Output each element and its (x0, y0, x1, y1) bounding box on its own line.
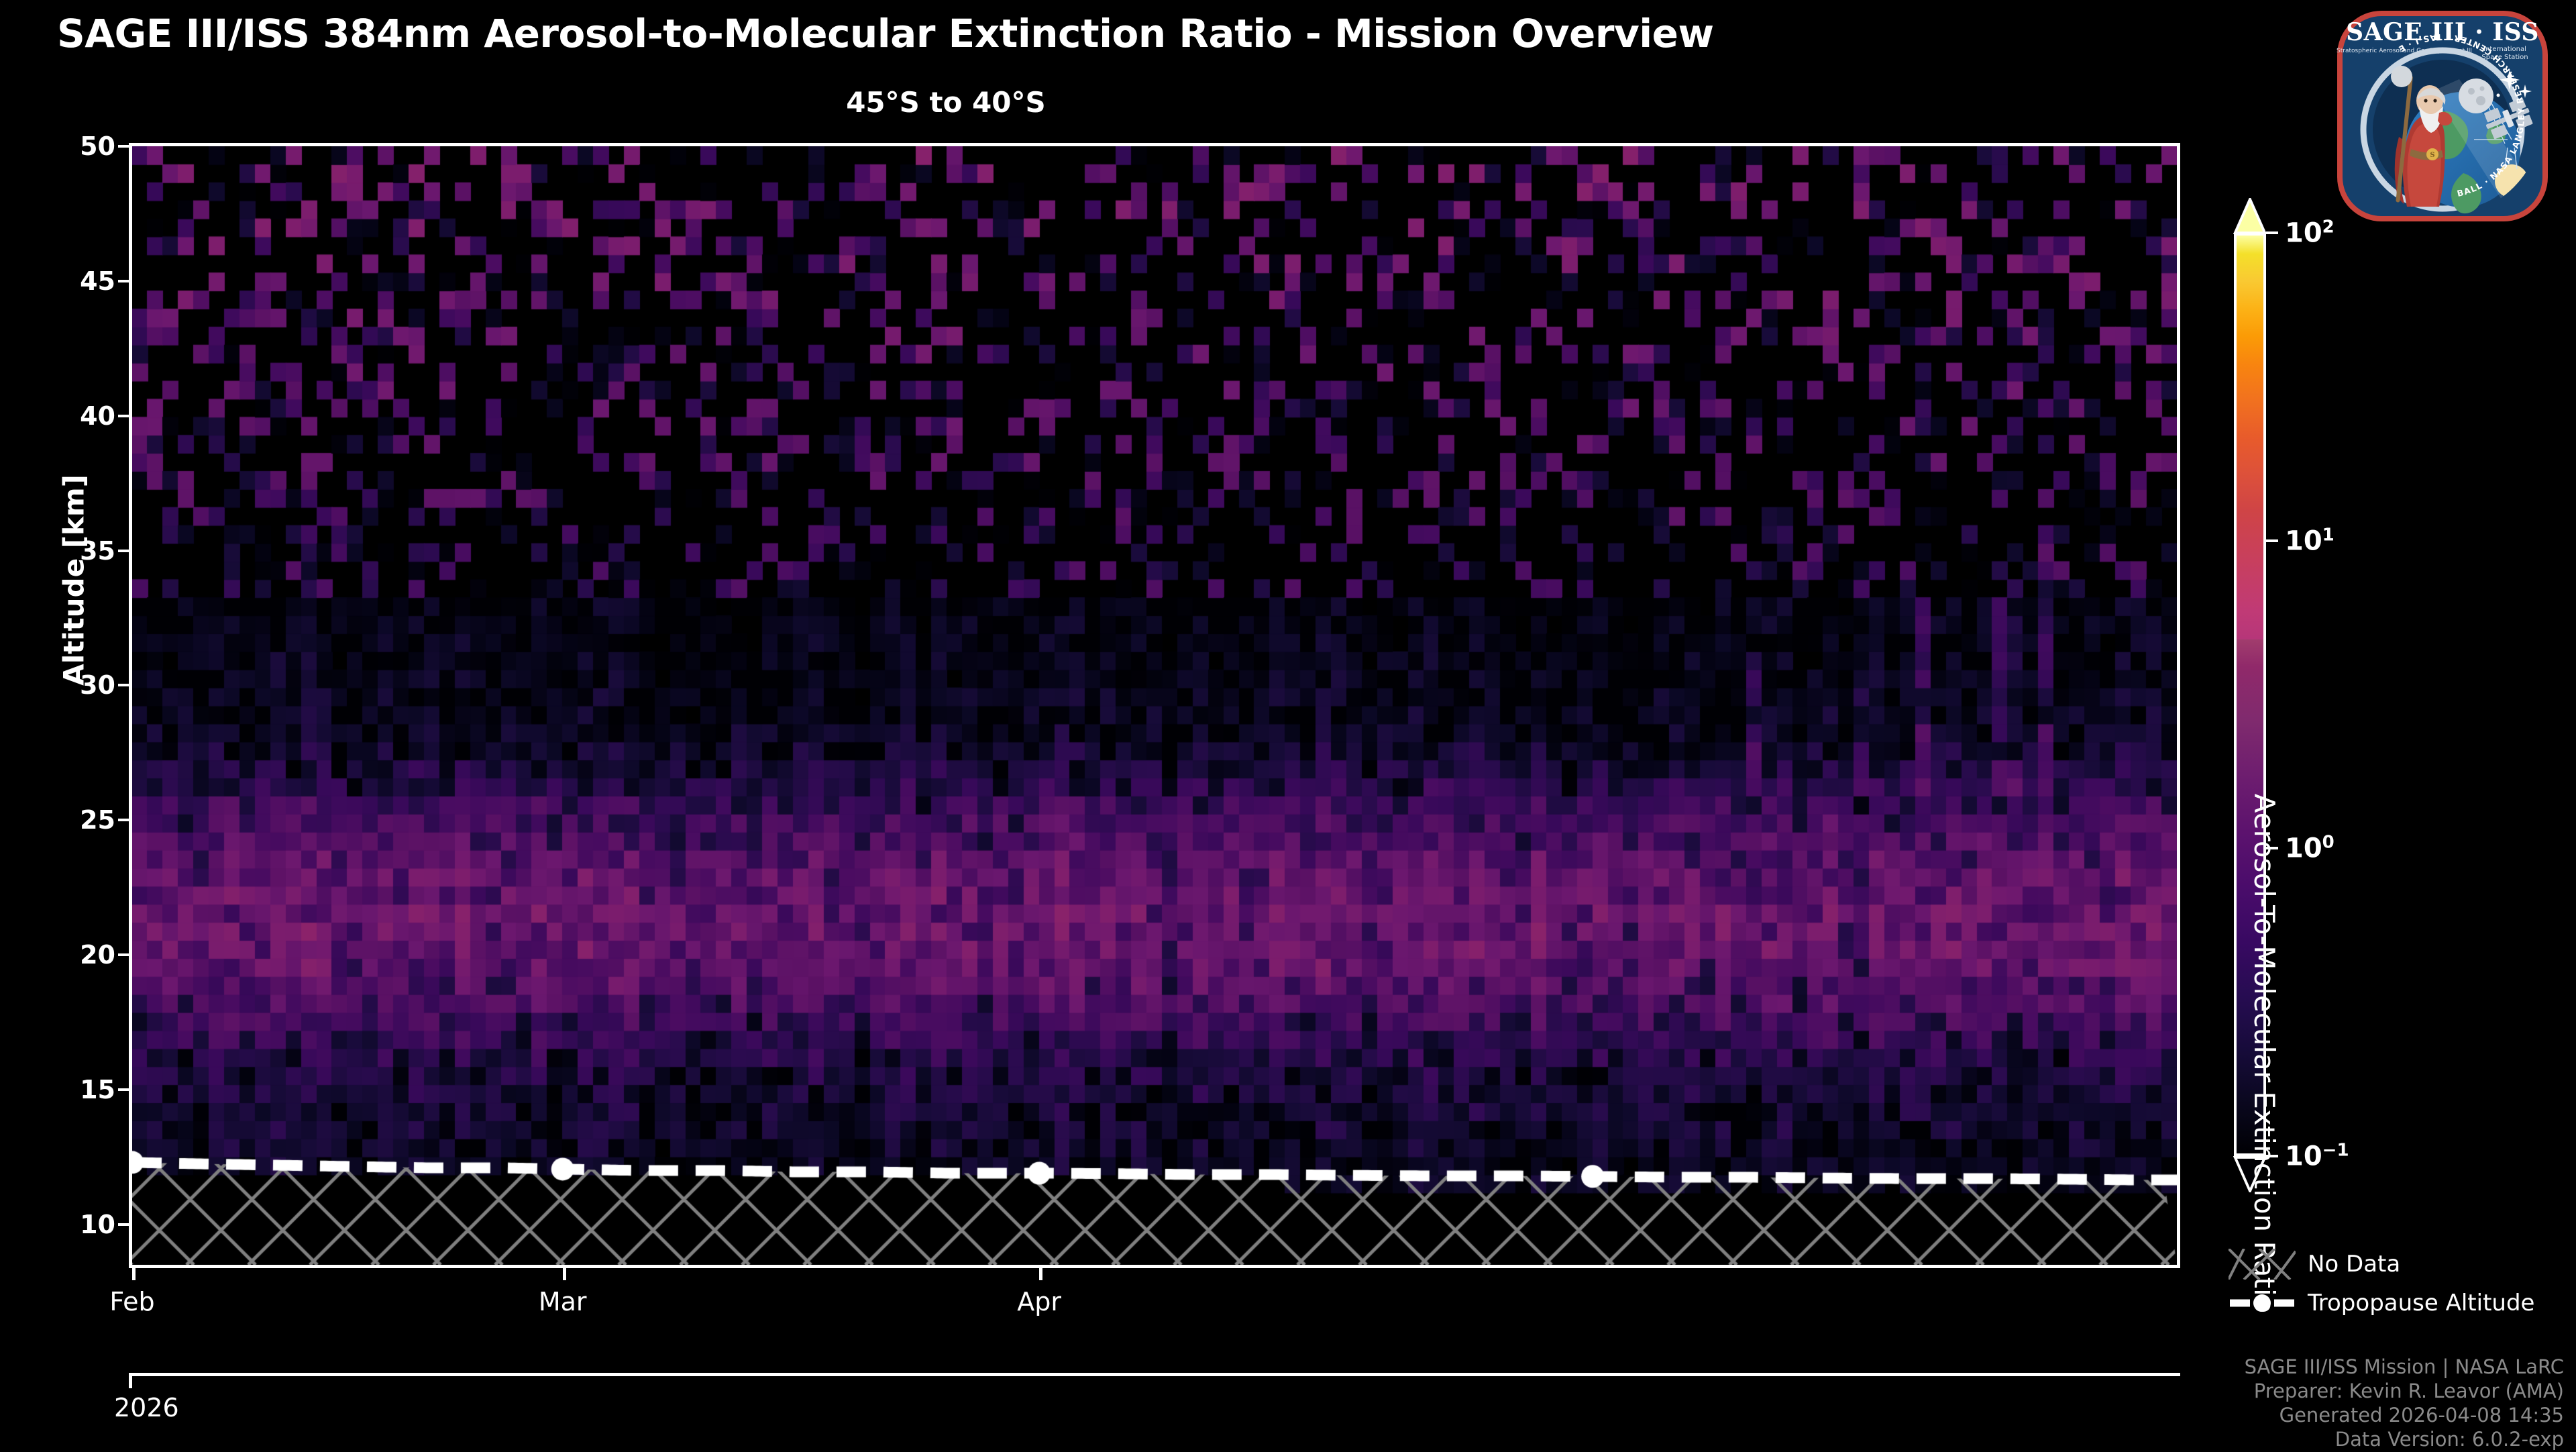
colorbar-extend-top-arrow-icon (2233, 198, 2267, 234)
sage-iii-iss-mission-patch-icon: SAGE III · ISS Stratospheric Aerosol and… (2332, 5, 2553, 227)
x-axis-tick-mark-Apr (1039, 1268, 1042, 1280)
colorbar-tick-mark-1e1 (2266, 539, 2278, 542)
legend: No Data Tropopause Altitude (2229, 1245, 2564, 1323)
y-axis-tick-label-35: 35 (80, 536, 115, 566)
y-axis-tick-mark-35 (118, 550, 129, 552)
year-axis-tick-mark (129, 1376, 132, 1388)
legend-label-no-data: No Data (2308, 1251, 2400, 1278)
y-axis-tick-mark-30 (118, 684, 129, 686)
y-axis-tick-label-45: 45 (80, 266, 115, 296)
footer-credits: SAGE III/ISS Mission | NASA LaRC Prepare… (2245, 1355, 2564, 1452)
footer-line-generated: Generated 2026-04-08 14:35 (2245, 1404, 2564, 1428)
y-axis-tick-label-10: 10 (80, 1210, 115, 1239)
y-axis-tick-mark-40 (118, 415, 129, 417)
page-title: SAGE III/ISS 384nm Aerosol-to-Molecular … (57, 11, 1801, 56)
footer-line-mission: SAGE III/ISS Mission | NASA LaRC (2245, 1355, 2564, 1380)
y-axis-tick-mark-10 (118, 1223, 129, 1226)
footer-line-version: Data Version: 6.0.2-exp (2245, 1428, 2564, 1452)
legend-label-tropopause: Tropopause Altitude (2308, 1290, 2534, 1316)
y-axis-tick-mark-50 (118, 145, 129, 148)
tropopause-altitude-line (132, 146, 2177, 1265)
colorbar-tick-label-1e2: 102 (2285, 217, 2334, 248)
legend-item-tropopause[interactable]: Tropopause Altitude (2229, 1284, 2564, 1323)
y-axis-tick-label-30: 30 (80, 670, 115, 700)
y-axis-tick-label-25: 25 (80, 805, 115, 835)
colorbar-tick-mark-1e2 (2266, 231, 2278, 234)
x-axis-tick-label-Mar: Mar (539, 1287, 587, 1316)
dashed-line-marker-icon (2229, 1288, 2296, 1318)
year-axis-line (129, 1373, 2180, 1376)
year-axis-label: 2026 (114, 1393, 179, 1422)
hatch-swatch-icon (2229, 1249, 2296, 1280)
colorbar-tick-label-1e-1: 10−1 (2285, 1140, 2349, 1172)
x-axis-tick-label-Feb: Feb (109, 1287, 154, 1316)
legend-item-no-data[interactable]: No Data (2229, 1245, 2564, 1284)
x-axis-tick-mark-Feb (132, 1268, 136, 1280)
y-axis-tick-mark-15 (118, 1088, 129, 1091)
svg-text:S: S (2430, 152, 2434, 159)
colorbar-tick-label-1e1: 101 (2285, 525, 2334, 556)
footer-line-preparer: Preparer: Kevin R. Leavor (AMA) (2245, 1380, 2564, 1404)
y-axis-tick-mark-45 (118, 280, 129, 282)
heatmap-plot-area[interactable] (129, 143, 2180, 1268)
x-axis-tick-mark-Mar (563, 1268, 566, 1280)
y-axis-tick-mark-20 (118, 953, 129, 956)
colorbar-tick-label-1e0: 100 (2285, 833, 2334, 864)
y-axis-tick-label-40: 40 (80, 401, 115, 431)
y-axis-tick-label-50: 50 (80, 132, 115, 161)
y-axis-tick-mark-25 (118, 819, 129, 821)
x-axis-tick-label-Apr: Apr (1017, 1287, 1061, 1316)
figure-subtitle: 45°S to 40°S (0, 86, 1892, 119)
y-axis-tick-label-15: 15 (80, 1075, 115, 1104)
y-axis-tick-label-20: 20 (80, 940, 115, 970)
